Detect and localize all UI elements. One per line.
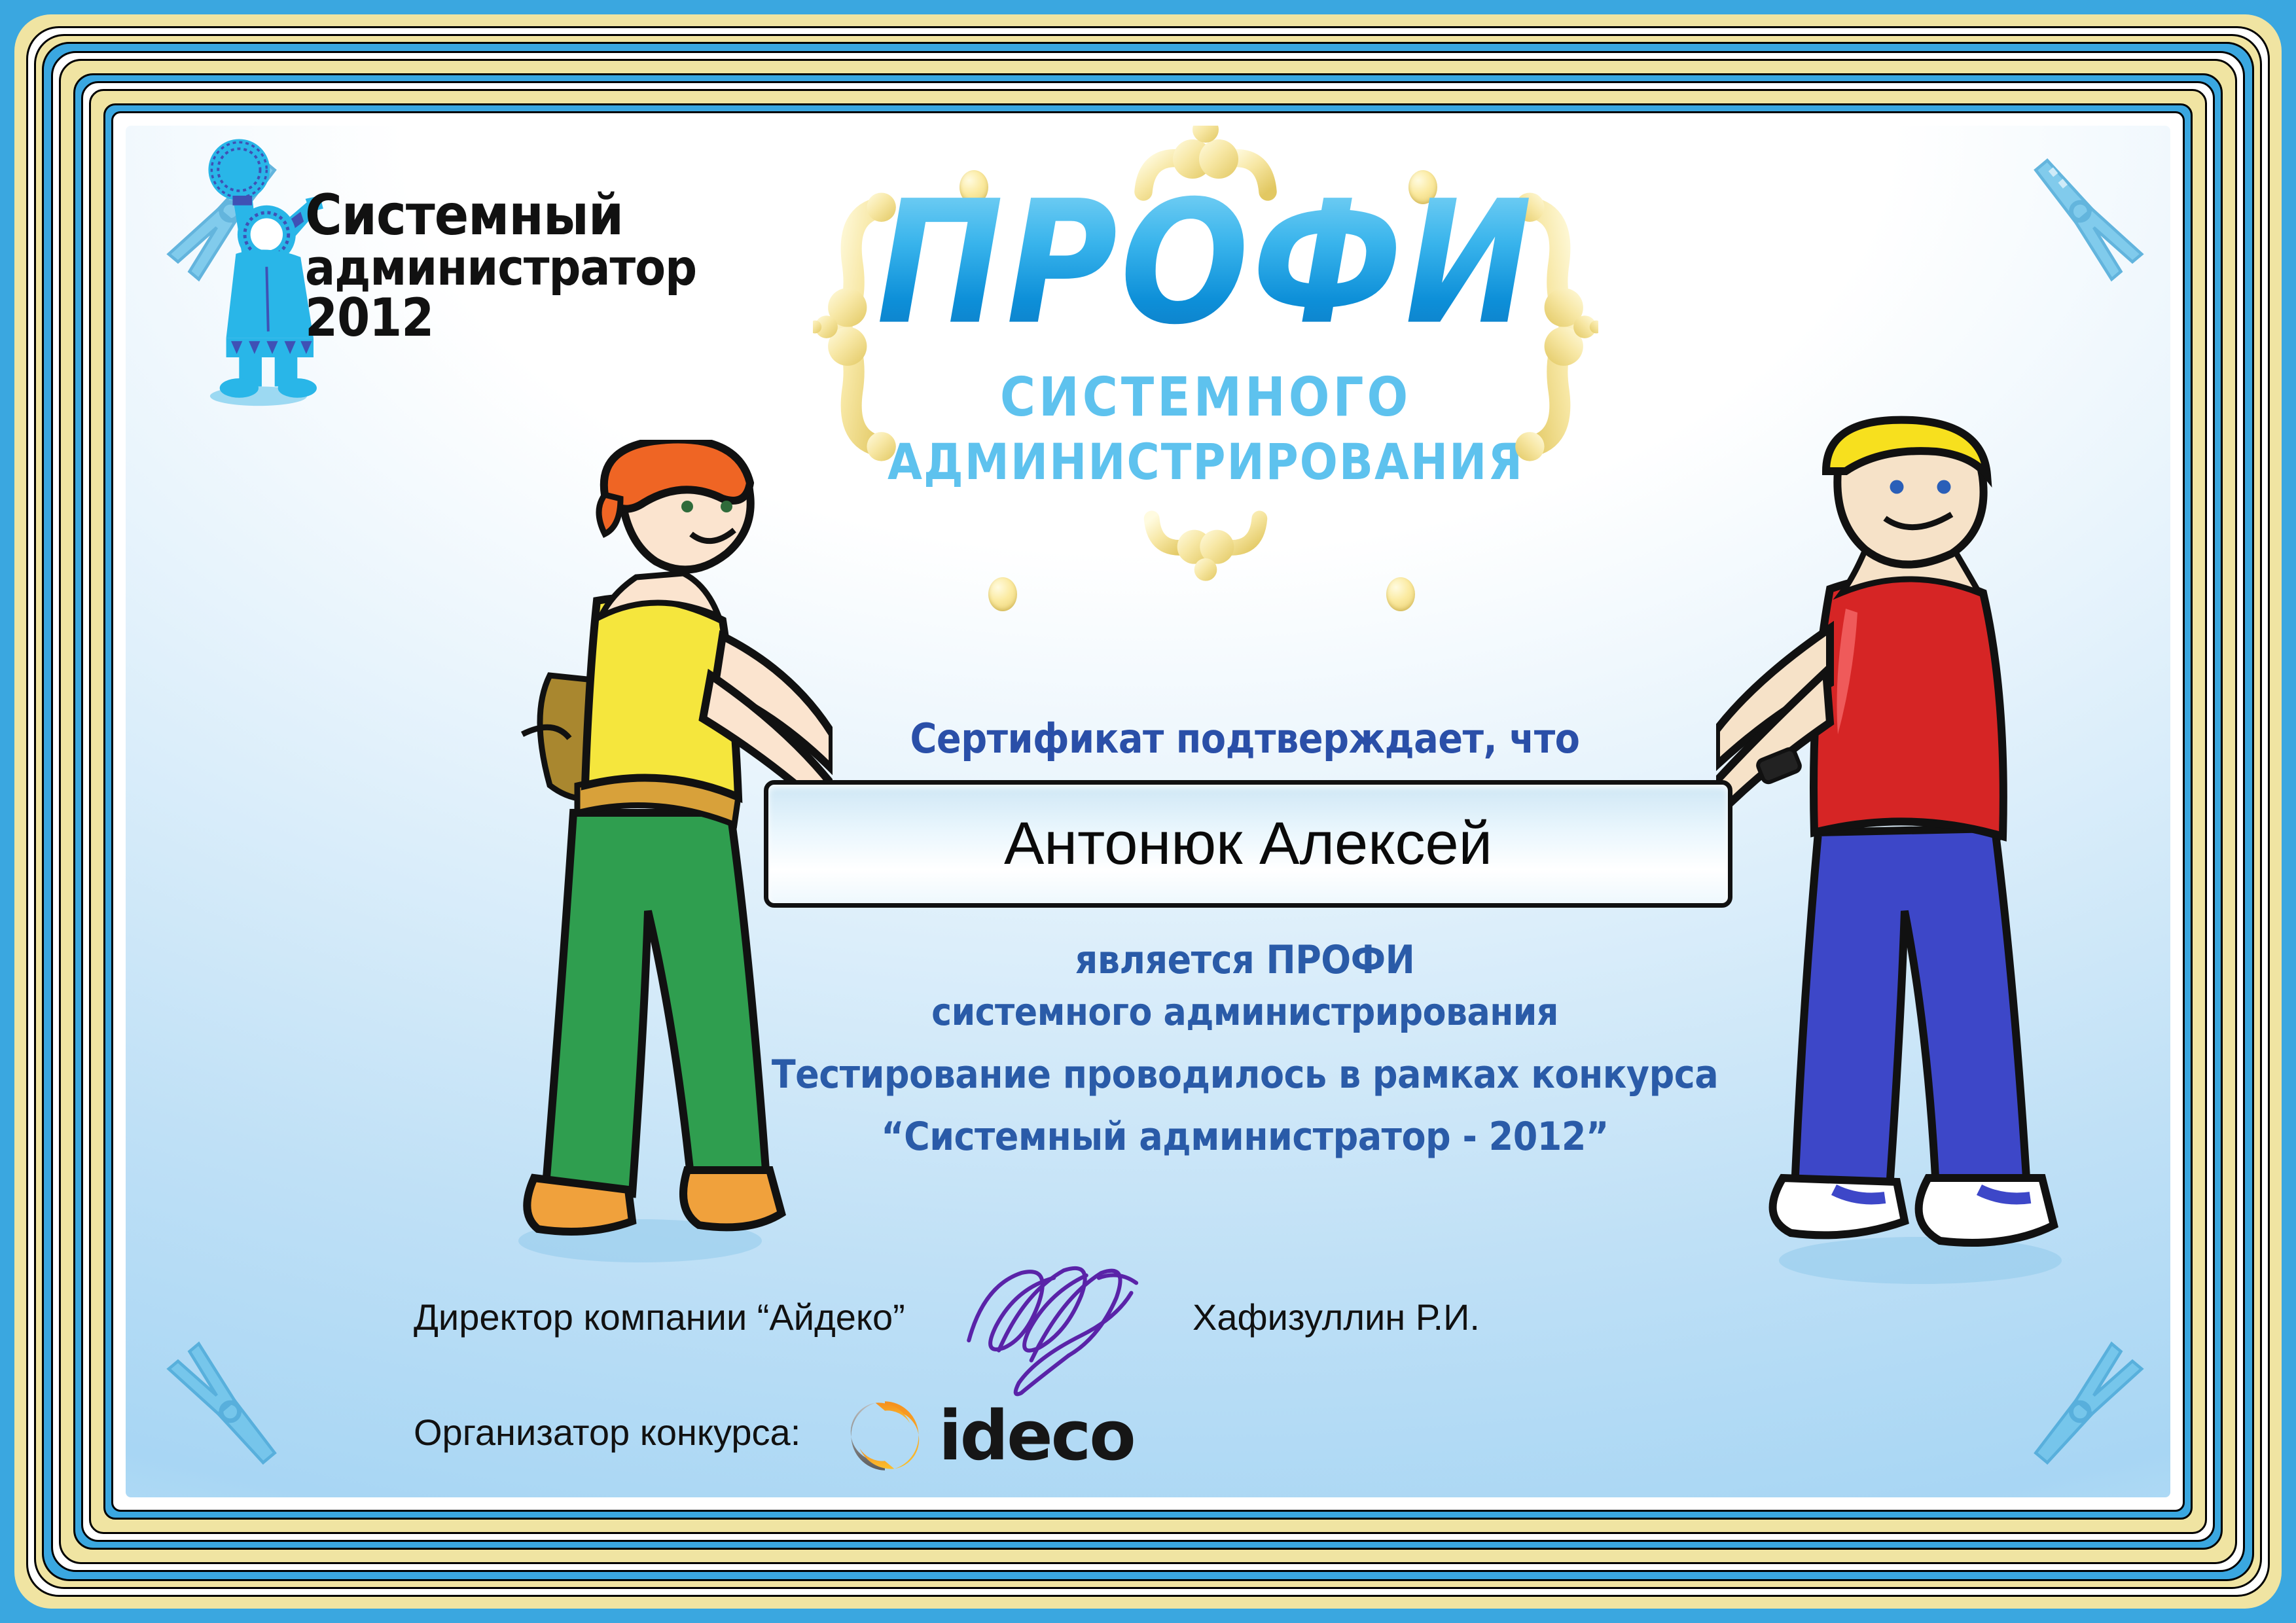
recipient-name: Антонюк Алексей <box>768 810 1728 878</box>
director-name: Хафизуллин Р.И. <box>1193 1296 1480 1338</box>
gold-dot-icon <box>988 577 1017 611</box>
body-line-2: системного администрирования <box>767 990 1723 1034</box>
body-line-3: Тестирование проводилось в рамках конкур… <box>767 1052 1723 1097</box>
pliers-icon <box>2008 137 2159 288</box>
certificate-border-frame: Системный администратор 2012 <box>0 0 2296 1623</box>
ideco-wordmark: ideco <box>939 1402 1134 1470</box>
organizer-row: Организатор конкурса: <box>414 1395 1854 1487</box>
director-label: Директор компании “Айдеко” <box>414 1296 905 1338</box>
brand-line-1: Системный <box>305 188 724 243</box>
brand-line-3: 2012 <box>305 293 724 344</box>
ideco-ring-icon <box>846 1397 924 1475</box>
profi-logo: ПРОФИ СИСТЕМНОГО АДМИНИСТРИРОВАНИЯ <box>819 126 1592 616</box>
handwritten-signature-icon <box>957 1260 1153 1398</box>
body-line-1: является ПРОФИ <box>767 937 1723 983</box>
confirm-line: Сертификат подтверждает, что <box>767 715 1723 762</box>
brand-logo: Системный администратор 2012 <box>177 132 713 446</box>
certificate-canvas: Системный администратор 2012 <box>126 126 2170 1497</box>
gold-dot-icon <box>1386 577 1415 611</box>
pliers-icon <box>152 1335 302 1486</box>
profi-title: ПРОФИ <box>819 178 1592 348</box>
male-character-icon <box>1716 414 2070 1291</box>
organizer-label: Организатор конкурса: <box>414 1411 800 1454</box>
gold-flourish-icon <box>1107 499 1304 584</box>
brand-line-2: администратор <box>305 244 724 292</box>
ideco-logo: ideco <box>846 1390 1199 1482</box>
body-line-4: “Системный администратор - 2012” <box>767 1114 1723 1160</box>
recipient-name-plate: Антонюк Алексей <box>764 780 1732 908</box>
pliers-icon <box>2008 1335 2159 1486</box>
profi-subtitle-2: АДМИНИСТРИРОВАНИЯ <box>819 433 1592 491</box>
profi-subtitle-1: СИСТЕМНОГО <box>819 366 1592 429</box>
signature-row: Директор компании “Айдеко” Хафизуллин Р.… <box>414 1277 1854 1376</box>
brand-text: Системный администратор 2012 <box>305 188 724 343</box>
